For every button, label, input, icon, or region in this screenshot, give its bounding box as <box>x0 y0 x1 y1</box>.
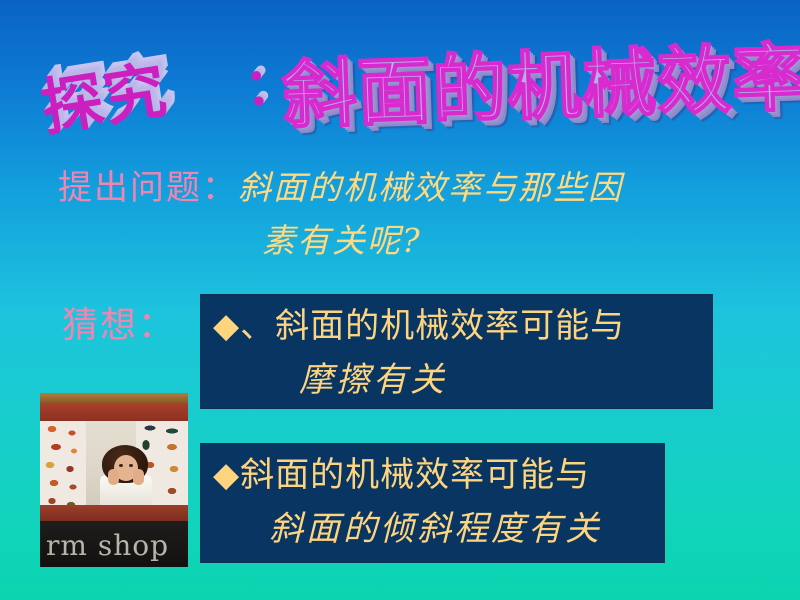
title-word-subject: 斜面的机械效率 <box>280 18 800 143</box>
diamond-bullet-icon: ◆ <box>213 455 240 495</box>
farm-shop-photo: rm shop <box>40 393 188 567</box>
guess-box-2: ◆斜面的机械效率可能与 斜面的倾斜程度有关 <box>200 443 665 563</box>
question-line-1: 提出问题：斜面的机械效率与那些因 <box>58 166 778 216</box>
photo-counter <box>40 505 188 521</box>
photo-red-beam <box>40 403 188 421</box>
guess-2-line-1: ◆斜面的机械效率可能与 <box>213 448 654 502</box>
question-text-line-1: 斜面的机械效率与那些因 <box>238 168 623 207</box>
slide-title: 探究 ： 斜面的机械效率 <box>0 18 800 148</box>
guess-box-1: ◆、斜面的机械效率可能与 摩擦有关 <box>200 294 713 409</box>
diamond-bullet-icon: ◆ <box>213 306 240 346</box>
photo-child-hand-left <box>108 469 119 485</box>
guess-1-line-2: 摩擦有关 <box>213 353 702 407</box>
photo-child-eye-left <box>119 464 123 467</box>
photo-chalkboard-text: rm shop <box>46 521 188 567</box>
title-word-inquiry: 探究 <box>34 39 173 148</box>
guess-label: 猜想： <box>62 296 176 348</box>
photo-child-eye-right <box>129 464 133 467</box>
question-text-line-2: 素有关呢? <box>58 216 778 266</box>
guess-2-line-2: 斜面的倾斜程度有关 <box>213 502 654 556</box>
photo-child-hand-right <box>133 469 144 485</box>
presentation-slide: 探究 ： 斜面的机械效率 提出问题：斜面的机械效率与那些因 素有关呢? 猜想： … <box>0 0 800 600</box>
photo-produce-left <box>40 421 86 517</box>
guess-2-text-1: 斜面的机械效率可能与 <box>240 455 590 495</box>
question-section: 提出问题：斜面的机械效率与那些因 素有关呢? <box>58 166 778 266</box>
guess-1-line-1: ◆、斜面的机械效率可能与 <box>213 299 702 353</box>
guess-1-text-1: 、斜面的机械效率可能与 <box>240 306 625 346</box>
question-label: 提出问题： <box>58 168 238 208</box>
photo-top-strip <box>40 393 188 403</box>
